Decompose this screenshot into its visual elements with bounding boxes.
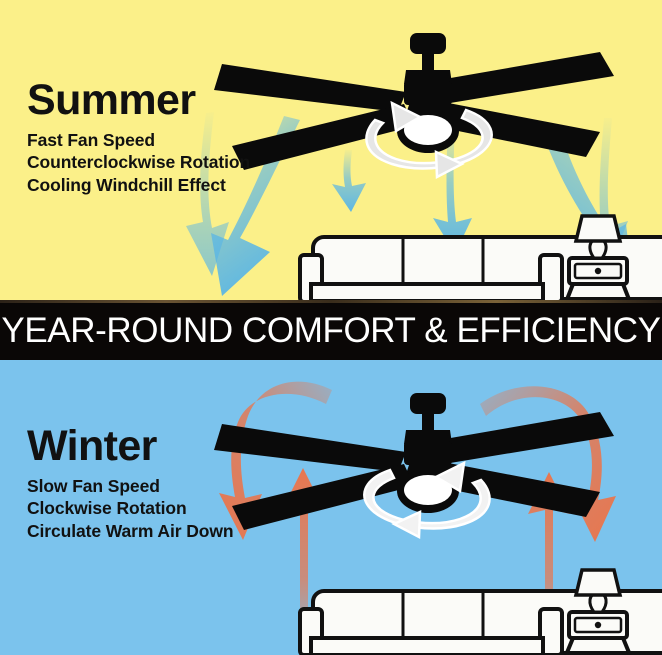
winter-text-block: Winter Slow Fan Speed Clockwise Rotation… — [27, 425, 233, 542]
winter-furniture — [300, 570, 662, 655]
ceiling-fan-direction-infographic: Summer Fast Fan Speed Counterclockwise R… — [0, 0, 662, 655]
banner-top-edge — [0, 300, 662, 303]
winter-panel: Winter Slow Fan Speed Clockwise Rotation… — [0, 360, 662, 655]
summer-bullet-1: Fast Fan Speed — [27, 129, 250, 151]
summer-text-block: Summer Fast Fan Speed Counterclockwise R… — [27, 79, 250, 196]
winter-bullet-3: Circulate Warm Air Down — [27, 520, 233, 542]
ceiling-fan-winter — [214, 393, 614, 537]
fan-mount — [404, 33, 452, 105]
fan-mount — [404, 393, 452, 465]
winter-bullet-2: Clockwise Rotation — [27, 497, 233, 519]
banner-text: YEAR-ROUND COMFORT & EFFICIENCY — [1, 311, 660, 351]
summer-bullet-3: Cooling Windchill Effect — [27, 174, 250, 196]
winter-bullet-1: Slow Fan Speed — [27, 475, 233, 497]
summer-bullet-2: Counterclockwise Rotation — [27, 151, 250, 173]
summer-furniture — [300, 216, 662, 302]
winter-title: Winter — [27, 425, 233, 468]
summer-panel: Summer Fast Fan Speed Counterclockwise R… — [0, 0, 662, 302]
year-round-banner: YEAR-ROUND COMFORT & EFFICIENCY — [0, 302, 662, 360]
summer-title: Summer — [27, 79, 250, 122]
fan-blades — [214, 412, 614, 530]
